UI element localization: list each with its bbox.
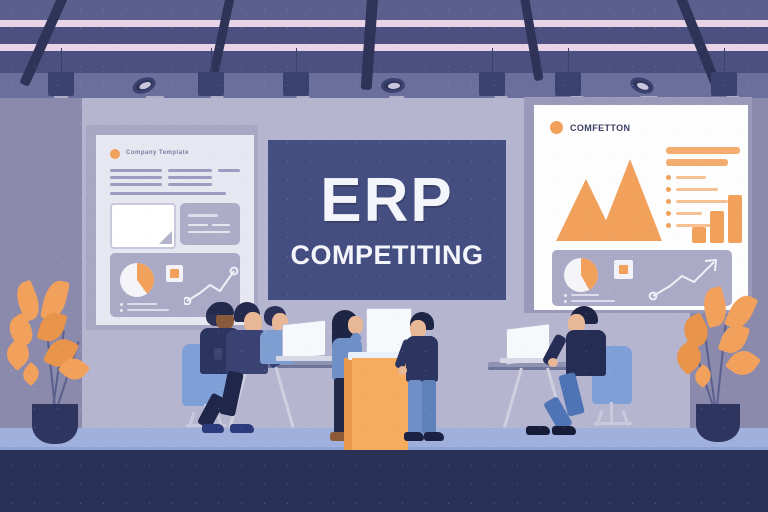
ceiling-lamp: [555, 72, 581, 96]
left-poster[interactable]: Company Template: [96, 135, 254, 325]
shoe: [202, 424, 224, 433]
banner-subheadline: COMPETITING: [291, 240, 484, 271]
pie-chart-slice: [120, 263, 154, 297]
banner-headline: ERP: [320, 170, 453, 232]
left-poster-title: Company Template: [126, 150, 189, 156]
shoe: [552, 426, 576, 435]
hair-cap: [208, 302, 234, 315]
placeholder-line: [188, 224, 208, 226]
ceiling-band: [0, 27, 768, 44]
podium-group: [318, 300, 448, 452]
lamp-wire: [61, 48, 62, 72]
right-poster-logo-icon: [550, 121, 563, 134]
ceiling-lamp: [48, 72, 74, 96]
ceiling-lamp: [283, 72, 309, 96]
lamp-wire: [211, 48, 212, 72]
header-bar: [666, 147, 740, 154]
placeholder-line: [188, 214, 218, 217]
shoe: [404, 432, 424, 441]
lamp-wire: [724, 48, 725, 72]
bar-chart-bar: [692, 227, 706, 243]
placeholder-line: [212, 224, 230, 226]
placeholder-line: [110, 176, 162, 179]
lamp-wire: [568, 48, 569, 72]
ceiling-light-strip: [0, 20, 768, 27]
torso: [566, 330, 606, 376]
twin-triangle-mark: [554, 157, 662, 243]
left-poster-text-card: [180, 203, 240, 245]
bullet-dot: [120, 309, 123, 312]
coffee-cup: [214, 348, 222, 360]
plant-pot: [32, 404, 78, 444]
leg: [422, 380, 436, 434]
placeholder-line: [168, 176, 212, 179]
plant-right: [672, 288, 768, 440]
bullet-line: [676, 200, 728, 203]
bullet-dot: [120, 303, 123, 306]
hand: [398, 366, 407, 375]
document-icon-glyph: [170, 269, 179, 278]
bullet-dot: [666, 199, 671, 204]
lamp-wire: [492, 48, 493, 72]
bar-chart-bar: [710, 211, 724, 243]
plant-left: [4, 280, 104, 440]
booth-illustration: Company Template: [0, 0, 768, 512]
right-poster-title: COMFETTON: [570, 123, 630, 133]
bullet-line: [676, 188, 718, 191]
shoe: [230, 424, 254, 433]
header-bar: [666, 159, 728, 166]
ceiling-lamp: [479, 72, 505, 96]
placeholder-line: [110, 192, 226, 195]
bullet-dot: [666, 223, 671, 228]
hand: [548, 358, 558, 367]
ceiling-lamp: [711, 72, 737, 96]
bullet-line: [676, 176, 706, 179]
front-floor: [0, 450, 768, 512]
leg: [408, 380, 422, 434]
chair-post: [610, 402, 613, 424]
right-poster[interactable]: COMFETTON: [534, 105, 748, 310]
ceiling: [0, 0, 768, 98]
bullet-dot: [564, 294, 567, 297]
placeholder-line: [571, 294, 599, 296]
podium-side: [344, 358, 352, 450]
placeholder-line: [188, 231, 230, 233]
triangle-right: [598, 159, 662, 241]
desk-leg: [274, 366, 295, 428]
shoe: [526, 426, 550, 435]
placeholder-line: [168, 169, 212, 172]
lamp-wire: [296, 48, 297, 72]
bullet-dot: [666, 187, 671, 192]
plant-pot: [696, 404, 740, 442]
card-fold-corner: [159, 231, 172, 244]
briefcase-icon-glyph: [619, 265, 628, 274]
placeholder-line: [127, 303, 157, 305]
ceiling-band: [0, 51, 768, 73]
left-poster-logo-icon: [110, 149, 120, 159]
right-workstation: [486, 300, 646, 452]
line-graph: [184, 263, 240, 305]
shoe: [424, 432, 444, 441]
placeholder-line: [168, 183, 212, 186]
bar-chart-bar: [728, 195, 742, 243]
placeholder-line: [110, 169, 162, 172]
pie-chart-slice: [564, 258, 598, 292]
bullet-dot: [666, 211, 671, 216]
placeholder-line: [127, 309, 169, 311]
placeholder-line: [218, 169, 240, 172]
placeholder-line: [110, 183, 162, 186]
desk-leg: [503, 368, 523, 428]
bullet-line: [676, 212, 702, 215]
ceiling-lamp: [198, 72, 224, 96]
ceiling-light-strip: [0, 44, 768, 51]
main-banner[interactable]: ERP COMPETITING: [268, 140, 506, 300]
bullet-dot: [666, 175, 671, 180]
